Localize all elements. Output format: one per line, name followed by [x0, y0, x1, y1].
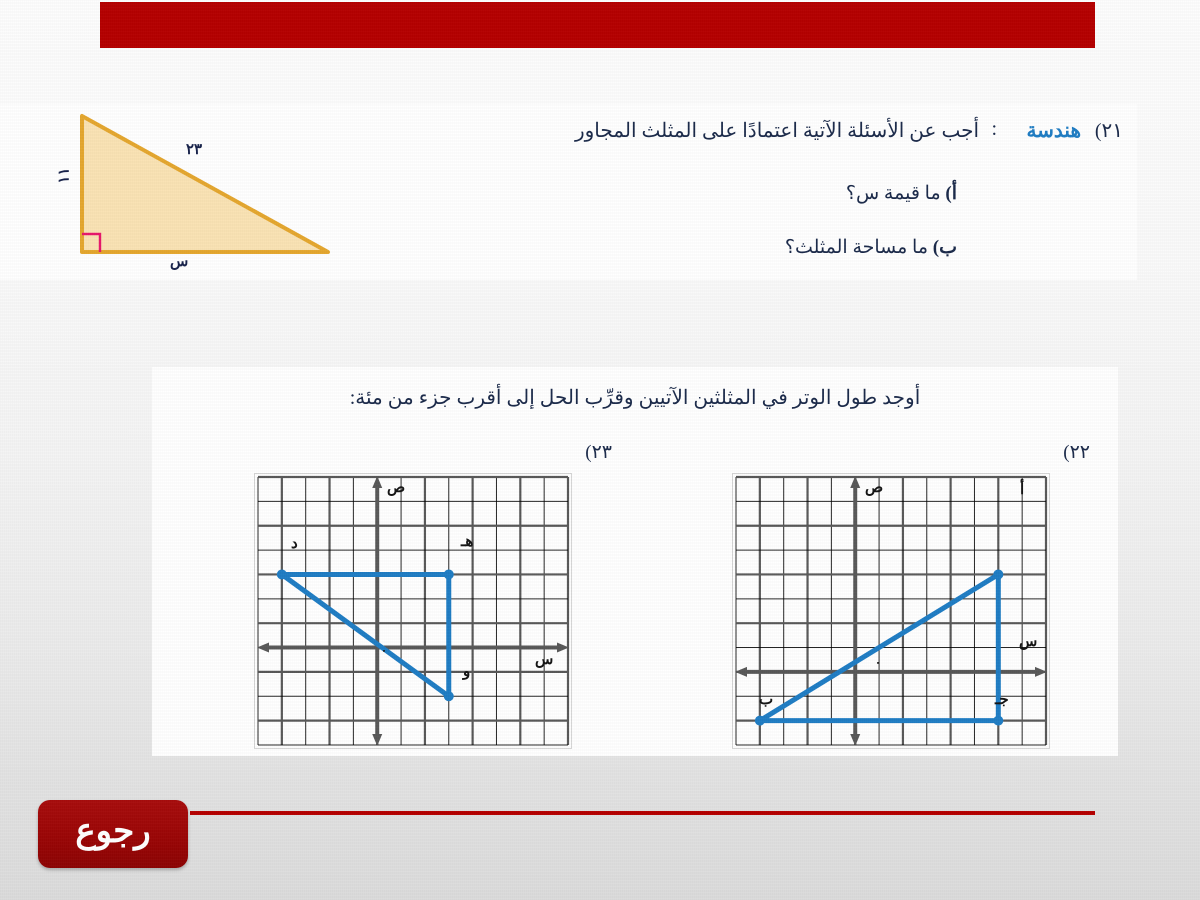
question-21-sub-a-text: ما قيمة س؟: [846, 183, 941, 204]
triangle-svg: [40, 104, 360, 284]
x-axis-label: س: [535, 650, 553, 669]
triangle-shape: [82, 116, 328, 252]
question-21-sub-a-letter: أ): [945, 183, 957, 204]
y-axis-label: ص: [865, 478, 883, 497]
question-21-sub-b-letter: ب): [933, 237, 957, 258]
triangle-label-hypotenuse: ٢٣: [186, 140, 202, 159]
x-axis-label: س: [1019, 632, 1037, 651]
question-21-sub-a: أ) ما قيمة س؟: [846, 182, 957, 205]
question-23-graph: ص س ٠ د هـ و: [254, 473, 572, 749]
back-button[interactable]: رجوع: [38, 800, 188, 868]
question-22-graph: ص س ٠ أ ب جـ: [732, 473, 1050, 749]
question-21-sub-b: ب) ما مساحة المثلث؟: [785, 236, 957, 259]
footer-rule: [190, 811, 1095, 815]
y-axis-label: ص: [387, 478, 405, 497]
graph-23-svg: [255, 474, 571, 748]
vertex-label-e: هـ: [461, 532, 473, 551]
coordinate-axes: [257, 476, 569, 746]
question-21-colon: :: [991, 118, 997, 141]
question-22-number: ٢٢): [1063, 441, 1090, 464]
triangle-def: [277, 569, 454, 701]
grid-lines: [258, 477, 568, 745]
question-21-keyword: هندسة: [1026, 118, 1081, 143]
question-21-stem: أجب عن الأسئلة الآتية اعتمادًا على المثل…: [575, 118, 979, 143]
vertex-label-d: د: [291, 534, 298, 553]
origin-marker: ٠: [381, 644, 387, 657]
origin-marker: ٠: [875, 656, 881, 669]
vertex-label-b: ب: [759, 690, 773, 709]
question-21-number: ٢١): [1095, 118, 1123, 143]
triangle-label-vertical-leg: ١١: [55, 167, 74, 183]
vertex-label-c: جـ: [995, 690, 1009, 709]
vertex-label-a: أ: [1020, 480, 1024, 499]
questions-22-23-prompt: أوجد طول الوتر في المثلثين الآتيين وقرِّ…: [182, 385, 1088, 410]
question-23-number: ٢٣): [585, 441, 612, 464]
header-bar: [100, 2, 1095, 48]
questions-22-23-panel: أوجد طول الوتر في المثلثين الآتيين وقرِّ…: [152, 367, 1118, 756]
back-button-label: رجوع: [75, 815, 150, 853]
question-21-triangle-figure: ١١ ٢٣ س: [40, 104, 360, 284]
slide-canvas: ٢١) هندسة : أجب عن الأسئلة الآتية اعتماد…: [0, 0, 1200, 900]
vertex-label-f: و: [463, 662, 470, 681]
question-21-sub-b-text: ما مساحة المثلث؟: [785, 237, 928, 258]
triangle-label-horizontal-leg: س: [170, 252, 188, 271]
